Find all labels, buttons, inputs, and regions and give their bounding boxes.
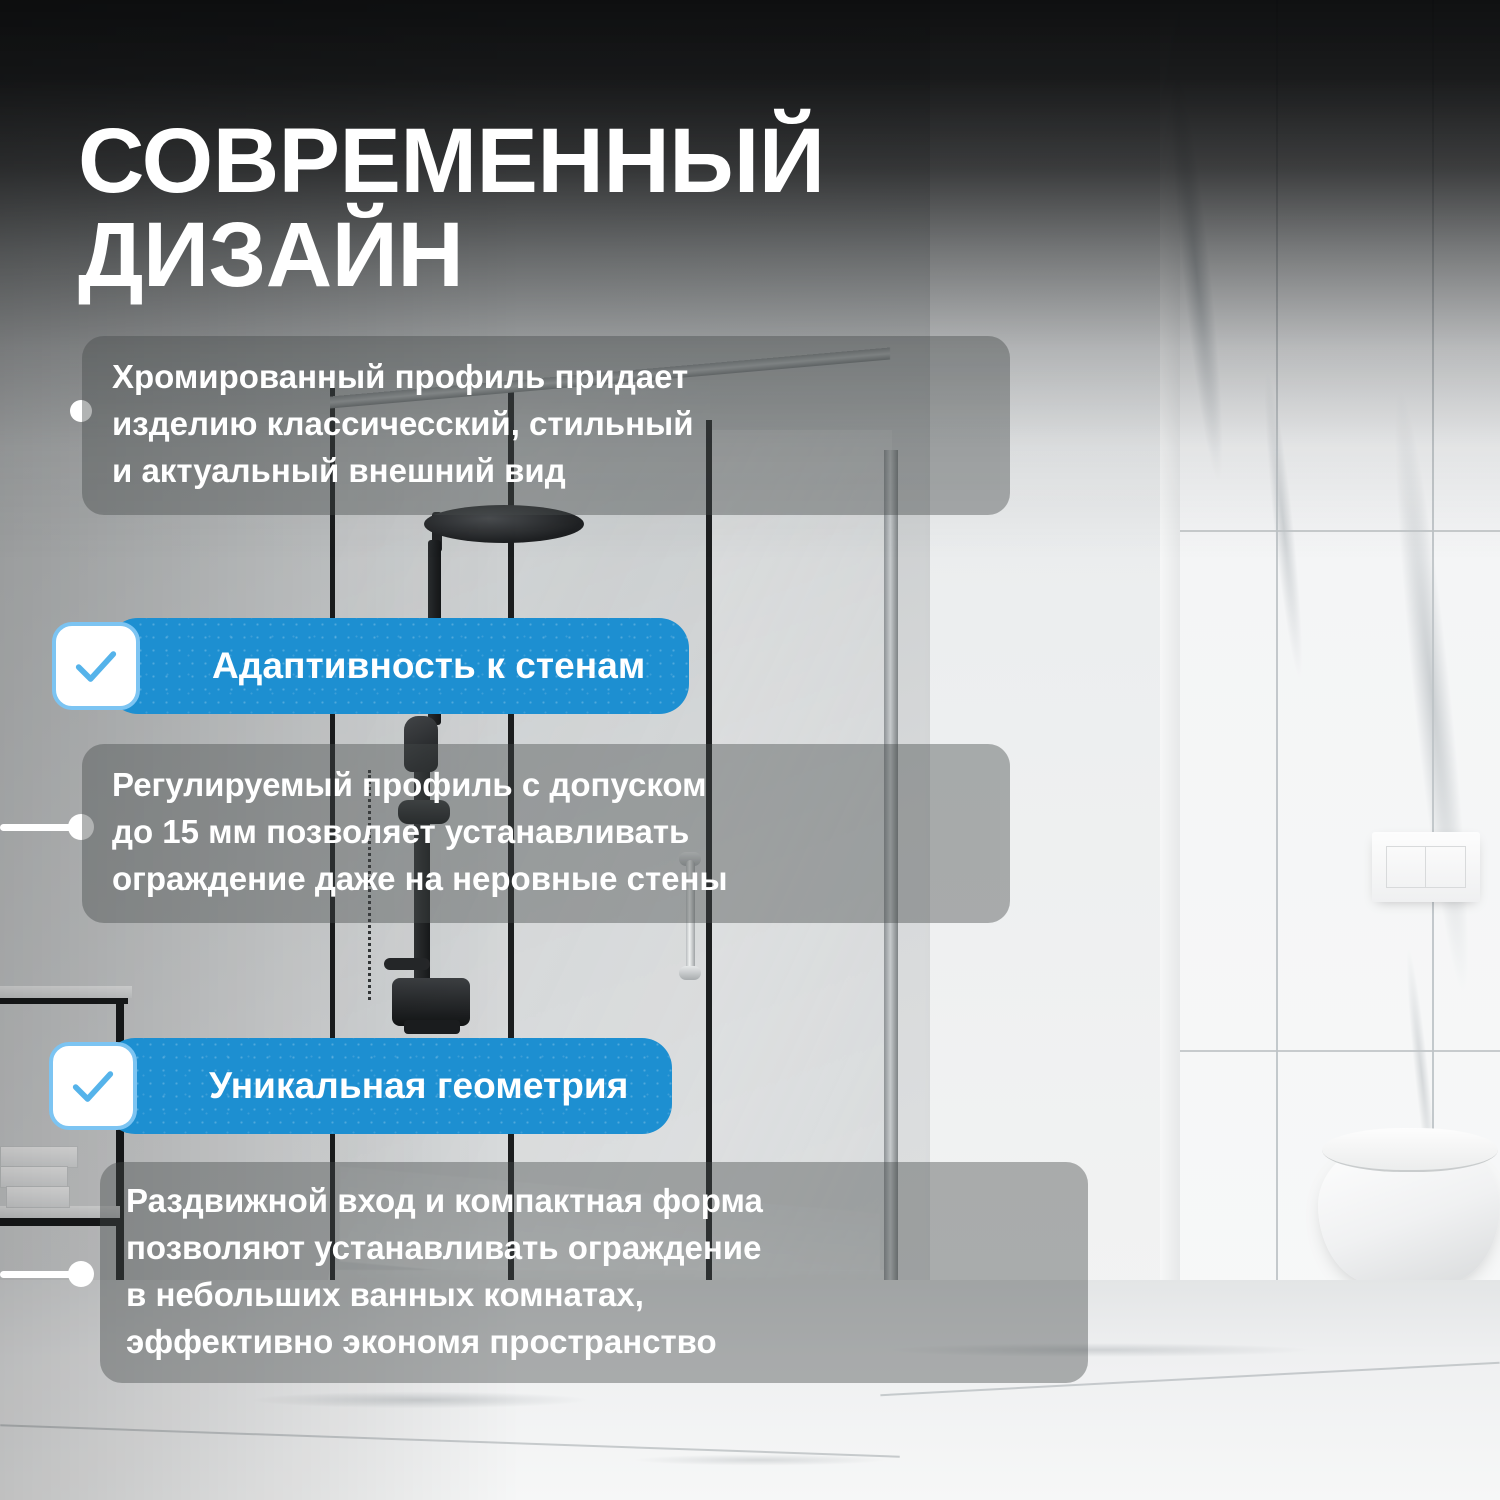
- badge-label: Адаптивность к стенам: [212, 645, 645, 687]
- connector-line-2: [0, 824, 76, 831]
- badge-unique-geometry[interactable]: Уникальная геометрия: [105, 1038, 672, 1134]
- feature-text-wall-adaptivity: Регулируемый профиль с допуском до 15 мм…: [82, 744, 1010, 923]
- feature-text-unique-geometry: Раздвижной вход и компактная форма позво…: [100, 1162, 1088, 1383]
- promo-banner: СОВРЕМЕННЫЙ ДИЗАЙН Хромированный профиль…: [0, 0, 1500, 1500]
- badge-label: Уникальная геометрия: [209, 1065, 628, 1107]
- feature-text-chrome-profile: Хромированный профиль придает изделию кл…: [82, 336, 1010, 515]
- badge-wall-adaptivity[interactable]: Адаптивность к стенам: [108, 618, 689, 714]
- page-title: СОВРЕМЕННЫЙ ДИЗАЙН: [78, 114, 1078, 304]
- connector-line-3: [0, 1271, 76, 1278]
- connector-dot-3: [68, 1261, 94, 1287]
- check-icon: [49, 1042, 137, 1130]
- check-icon: [52, 622, 140, 710]
- content-layer: СОВРЕМЕННЫЙ ДИЗАЙН Хромированный профиль…: [0, 0, 1500, 1500]
